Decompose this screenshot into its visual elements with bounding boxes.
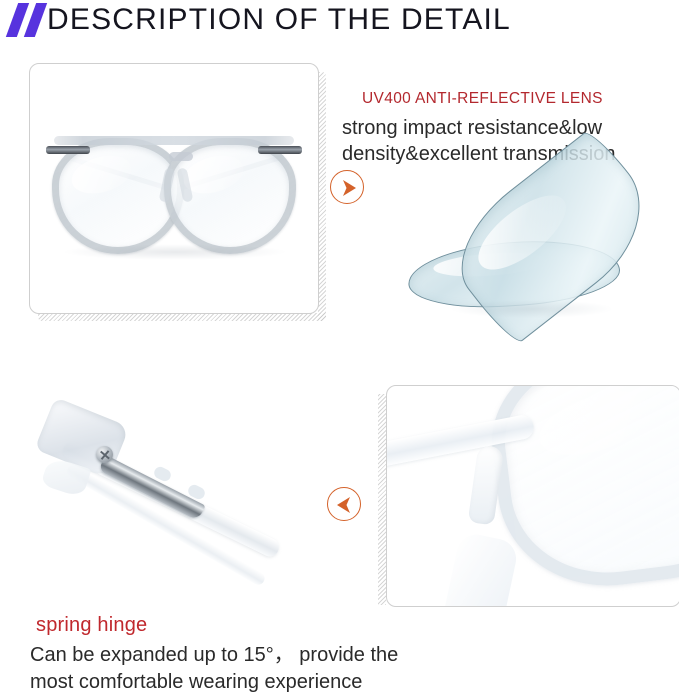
- spring-hinge-description-line1: Can be expanded up to 15°， provide the: [30, 642, 398, 669]
- panel-shadow-left: [378, 394, 386, 605]
- lenses-drop-shadow: [452, 300, 612, 318]
- brow-bar: [54, 136, 294, 145]
- circled-left-arrow-icon: [327, 487, 361, 521]
- spring-hinge-photo: [28, 392, 318, 592]
- double-slash-icon: [8, 3, 52, 37]
- spring-hinge-description: Can be expanded up to 15°， provide the m…: [30, 642, 398, 696]
- glasses-drop-shadow: [62, 244, 288, 260]
- panel-shadow-bottom: [38, 313, 326, 321]
- page-title: DESCRIPTION OF THE DETAIL: [47, 0, 511, 40]
- page-header: DESCRIPTION OF THE DETAIL: [0, 0, 679, 44]
- anti-reflective-lenses-photo: [396, 170, 668, 320]
- uv400-heading: UV400 ANTI-REFLECTIVE LENS: [362, 90, 603, 108]
- bridge-nose-pad: [468, 445, 505, 526]
- bridge-bar: [169, 152, 193, 161]
- spring-hinge-description-line2: most comfortable wearing experience: [30, 669, 398, 696]
- hinge-tab-right: [258, 146, 302, 154]
- hinge-tab-left: [46, 146, 90, 154]
- photo-panel-nose-bridge: [386, 385, 679, 607]
- nose-bridge-photo: [387, 386, 679, 606]
- spring-hinge-heading: spring hinge: [36, 614, 147, 637]
- clear-eyeglasses-photo: [30, 64, 318, 313]
- bridge-lower-rim: [438, 531, 520, 607]
- uv400-description-line1: strong impact resistance&low: [342, 115, 615, 141]
- panel-shadow-right: [318, 72, 326, 321]
- circled-right-arrow-icon: [330, 170, 364, 204]
- photo-panel-eyeglasses: [29, 63, 319, 314]
- hinge-screw: [96, 446, 113, 463]
